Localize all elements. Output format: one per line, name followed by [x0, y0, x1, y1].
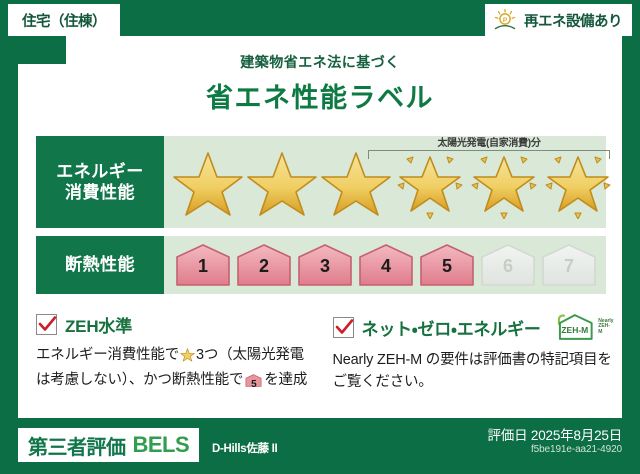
statement-net-zero-energy-body: Nearly ZEH-M の要件は評価書の特記項目をご覧ください。: [333, 349, 614, 394]
zeh-body-part1: エネルギー消費性能で: [36, 347, 179, 363]
building-type-label: 住宅（住棟）: [22, 10, 106, 31]
grade-house-5: 5: [418, 243, 476, 287]
energy-consumption-row: エネルギー 消費性能 太陽光発電(自家消費)分: [36, 136, 606, 228]
solar-annotation-bracket: [368, 150, 610, 159]
solar-generation-annotation: 太陽光発電(自家消費)分: [368, 134, 610, 159]
building-type-tag: 住宅（住棟）: [8, 4, 120, 36]
energy-label-line2: 消費性能: [65, 182, 135, 203]
heading-title: 省エネ性能ラベル: [0, 76, 640, 115]
grade-house-1: 1: [174, 243, 232, 287]
bels-label: BELS: [133, 432, 190, 458]
energy-consumption-label: エネルギー 消費性能: [36, 136, 164, 228]
statement-zeh-standard-title: ZEH水準: [65, 312, 132, 337]
zeh-m-logo-sub: Nearly ZEH-M: [598, 319, 614, 335]
checkbox-checked-icon: [333, 317, 354, 338]
evaluation-id: f5be191e-aa21-4920: [531, 444, 622, 455]
building-name: D-Hills佐藤 II: [212, 440, 277, 456]
energy-label-line1: エネルギー: [56, 161, 144, 182]
statement-net-zero-energy-head: ネット・ゼロ・エネルギー ZEH-M Nearly ZEH-M: [333, 312, 614, 342]
renewable-energy-label: 再エネ設備あり: [524, 10, 622, 31]
solar-annotation-label: 太陽光発電(自家消費)分: [368, 134, 610, 149]
grade-house-2: 2: [235, 243, 293, 287]
heading-subtitle: 建築物省エネ法に基づく: [0, 52, 640, 72]
grade-house-6: 6: [479, 243, 537, 287]
star-solid: [172, 145, 244, 219]
insulation-grade-scale: 1 2 3: [164, 236, 606, 294]
svg-text:P: P: [503, 17, 508, 24]
certification-statements: ZEH水準 エネルギー消費性能で3つ（太陽光発電は考慮しない）、かつ断熱性能で5…: [36, 312, 614, 396]
statement-net-zero-energy: ネット・ゼロ・エネルギー ZEH-M Nearly ZEH-M Nearly Z…: [333, 312, 614, 396]
grade-house-3: 3: [296, 243, 354, 287]
footer-bar: 第三者評価 BELS D-Hills佐藤 II 評価日 2025年8月25日 f…: [0, 418, 640, 474]
bels-certification-box: 第三者評価 BELS: [18, 428, 199, 462]
zeh-m-logo: ZEH-M Nearly ZEH-M: [553, 312, 614, 342]
energy-performance-label: 住宅（住棟） P 再エネ設備あり 建築物省エネ法に基づく 省エネ性能ラベル: [0, 0, 640, 474]
third-party-eval-label: 第三者評価: [28, 431, 126, 460]
renewable-energy-badge: P 再エネ設備あり: [485, 4, 632, 36]
metric-rows: エネルギー 消費性能 太陽光発電(自家消費)分: [36, 136, 606, 294]
inline-grade-house-icon: 5: [245, 373, 262, 395]
insulation-label-line1: 断熱性能: [65, 254, 135, 275]
zeh-m-logo-sub-line2: ZEH-M: [598, 323, 610, 334]
checkbox-checked-icon: [36, 314, 57, 335]
insulation-grade-body: 1 2 3: [164, 236, 606, 294]
statement-zeh-standard-head: ZEH水準: [36, 312, 317, 337]
statement-zeh-standard: ZEH水準 エネルギー消費性能で3つ（太陽光発電は考慮しない）、かつ断熱性能で5…: [36, 312, 317, 396]
insulation-performance-row: 断熱性能: [36, 236, 606, 294]
statement-net-zero-energy-title: ネット・ゼロ・エネルギー: [362, 315, 541, 340]
star-solid: [246, 145, 318, 219]
inline-grade-house-value: 5: [245, 377, 262, 393]
grade-house-4: 4: [357, 243, 415, 287]
zeh-body-part3: を達成: [264, 372, 307, 388]
solar-sun-icon: P: [492, 8, 518, 32]
svg-text:ZEH-M: ZEH-M: [561, 325, 588, 335]
grade-house-7: 7: [540, 243, 598, 287]
energy-rating-body: 太陽光発電(自家消費)分: [164, 136, 606, 228]
statement-zeh-standard-body: エネルギー消費性能で3つ（太陽光発電は考慮しない）、かつ断熱性能で5を達成: [36, 344, 317, 396]
evaluation-date: 評価日 2025年8月25日: [487, 424, 622, 444]
inline-star-icon: [180, 347, 195, 369]
insulation-label: 断熱性能: [36, 236, 164, 294]
label-heading: 建築物省エネ法に基づく 省エネ性能ラベル: [0, 52, 640, 115]
zeh-body-star-count: 3つ: [196, 347, 218, 363]
